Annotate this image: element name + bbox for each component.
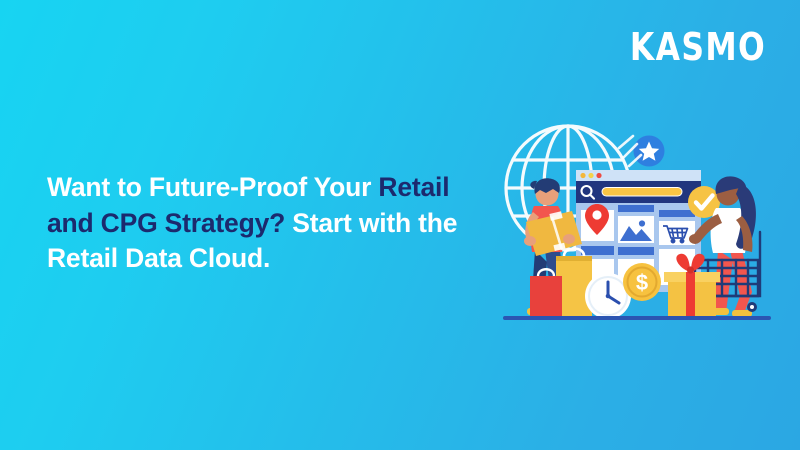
retail-illustration: $ xyxy=(490,110,790,335)
dollar-coin: $ xyxy=(623,263,661,301)
svg-text:$: $ xyxy=(636,270,648,295)
ground-line xyxy=(503,316,771,320)
close-dot-icon[interactable] xyxy=(596,173,601,178)
page-title: Want to Future-Proof Your Retail and CPG… xyxy=(47,170,467,277)
search-input[interactable] xyxy=(602,188,682,197)
content-bar xyxy=(618,205,654,212)
headline-line-2-tail: Start xyxy=(285,208,352,238)
minimize-dot-icon[interactable] xyxy=(580,173,585,178)
shopping-bag-red xyxy=(530,269,562,318)
content-bar xyxy=(659,210,695,217)
headline-line-1: Want to Future-Proof Your xyxy=(47,172,371,202)
maximize-dot-icon[interactable] xyxy=(588,173,593,178)
content-bar xyxy=(618,247,654,255)
kasmo-logo[interactable]: KASMO xyxy=(630,28,766,66)
shoe xyxy=(732,310,752,317)
window-controls[interactable] xyxy=(580,173,601,178)
star-badge xyxy=(634,136,665,167)
promo-banner: KASMO Want to Future-Proof Your Retail a… xyxy=(0,0,800,450)
content-bar xyxy=(581,246,614,255)
